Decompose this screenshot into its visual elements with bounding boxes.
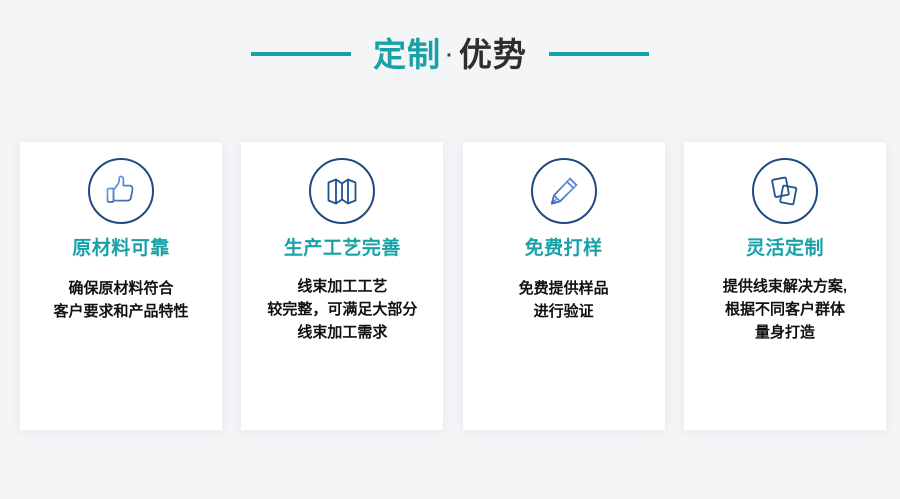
body-line: 根据不同客户群体 bbox=[723, 298, 847, 321]
advantage-card[interactable]: 生产工艺完善 线束加工工艺 较完整，可满足大部分 线束加工需求 bbox=[241, 142, 443, 430]
body-line: 线束加工需求 bbox=[267, 321, 417, 344]
body-line: 进行验证 bbox=[519, 300, 609, 323]
advantages-section: 定制 · 优势 bbox=[0, 0, 900, 499]
heading-sub-text: 优势 bbox=[459, 38, 527, 71]
advantage-card-title: 免费打样 bbox=[525, 238, 603, 261]
body-line: 量身打造 bbox=[723, 321, 847, 344]
advantage-card-title: 原材料可靠 bbox=[72, 238, 170, 261]
advantage-card-body: 提供线束解决方案, 根据不同客户群体 量身打造 bbox=[717, 275, 853, 345]
body-line: 确保原材料符合 bbox=[53, 277, 188, 300]
heading-rule-right-icon bbox=[549, 52, 649, 56]
body-line: 线束加工工艺 bbox=[267, 275, 417, 298]
section-heading: 定制 · 优势 bbox=[0, 26, 900, 82]
advantage-card-title: 生产工艺完善 bbox=[284, 238, 401, 261]
heading-separator-dot: · bbox=[441, 46, 459, 66]
body-line: 客户要求和产品特性 bbox=[53, 300, 188, 323]
advantage-card-list: 原材料可靠 确保原材料符合 客户要求和产品特性 生产工艺完善 bbox=[20, 142, 886, 432]
body-line: 提供线束解决方案, bbox=[723, 275, 847, 298]
advantage-card[interactable]: 灵活定制 提供线束解决方案, 根据不同客户群体 量身打造 bbox=[684, 142, 886, 430]
advantage-card-body: 免费提供样品 进行验证 bbox=[513, 277, 615, 324]
thumbs-up-icon bbox=[88, 158, 154, 224]
heading-main-text: 定制 bbox=[373, 38, 441, 71]
overlapping-cards-icon bbox=[752, 158, 818, 224]
advantage-card-body: 线束加工工艺 较完整，可满足大部分 线束加工需求 bbox=[261, 275, 423, 345]
body-line: 免费提供样品 bbox=[519, 277, 609, 300]
pencil-icon bbox=[531, 158, 597, 224]
advantage-card-body: 确保原材料符合 客户要求和产品特性 bbox=[47, 277, 194, 324]
page-title: 定制 · 优势 bbox=[373, 38, 527, 71]
heading-rule-left-icon bbox=[251, 52, 351, 56]
advantage-card[interactable]: 免费打样 免费提供样品 进行验证 bbox=[463, 142, 665, 430]
folded-map-icon bbox=[309, 158, 375, 224]
advantage-card[interactable]: 原材料可靠 确保原材料符合 客户要求和产品特性 bbox=[20, 142, 222, 430]
advantage-card-title: 灵活定制 bbox=[746, 238, 824, 261]
body-line: 较完整，可满足大部分 bbox=[267, 298, 417, 321]
